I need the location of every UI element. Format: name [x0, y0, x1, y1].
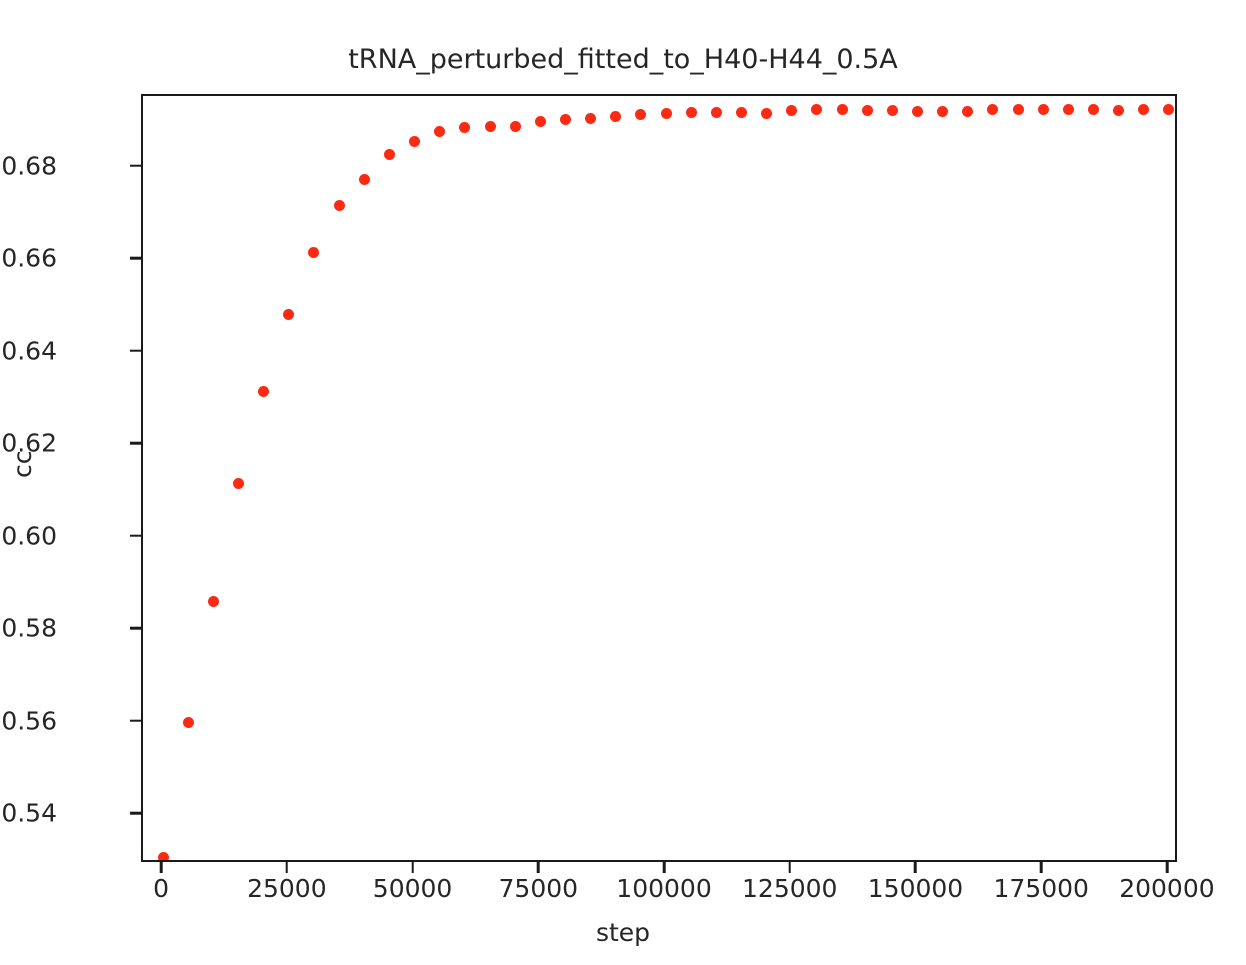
- x-tick-mark: [1166, 862, 1169, 873]
- data-point: [635, 109, 646, 120]
- data-point: [485, 121, 496, 132]
- x-tick-mark: [1040, 862, 1043, 873]
- x-axis-label: step: [0, 918, 1246, 947]
- y-tick-mark: [130, 442, 141, 445]
- y-tick-mark: [130, 349, 141, 352]
- data-point: [308, 247, 319, 258]
- y-tick-mark: [130, 257, 141, 260]
- y-tick-label: 0.56: [1, 706, 57, 735]
- y-tick-label: 0.58: [1, 614, 57, 643]
- data-point: [837, 104, 848, 115]
- x-tick-label: 125000: [742, 874, 837, 903]
- y-tick-label: 0.64: [1, 336, 57, 365]
- x-tick-label: 175000: [993, 874, 1088, 903]
- data-point: [1113, 105, 1124, 116]
- data-point: [434, 126, 445, 137]
- plot-area: [141, 94, 1177, 862]
- data-point: [258, 386, 269, 397]
- data-point: [661, 108, 672, 119]
- data-point: [560, 114, 571, 125]
- data-point: [409, 136, 420, 147]
- x-tick-label: 150000: [868, 874, 963, 903]
- y-tick-mark: [130, 164, 141, 167]
- x-tick-mark: [286, 862, 289, 873]
- y-tick-label: 0.54: [1, 799, 57, 828]
- x-tick-mark: [411, 862, 414, 873]
- data-point: [359, 174, 370, 185]
- data-point: [1138, 104, 1149, 115]
- figure-canvas: tRNA_perturbed_fitted_to_H40-H44_0.5A cc…: [0, 0, 1246, 965]
- data-point: [686, 107, 697, 118]
- x-tick-label: 0: [153, 874, 169, 903]
- data-point: [233, 478, 244, 489]
- data-point: [283, 309, 294, 320]
- data-point: [1163, 104, 1174, 115]
- y-tick-label: 0.66: [1, 244, 57, 273]
- data-point: [987, 104, 998, 115]
- data-point: [786, 105, 797, 116]
- data-point: [1038, 104, 1049, 115]
- data-point: [459, 122, 470, 133]
- data-point: [811, 104, 822, 115]
- y-tick-mark: [130, 812, 141, 815]
- data-point: [158, 852, 169, 860]
- x-tick-mark: [914, 862, 917, 873]
- data-point: [510, 121, 521, 132]
- x-tick-label: 25000: [247, 874, 327, 903]
- data-point: [585, 113, 596, 124]
- x-tick-label: 100000: [616, 874, 711, 903]
- data-point: [208, 596, 219, 607]
- data-point: [937, 106, 948, 117]
- data-point: [736, 107, 747, 118]
- data-point: [535, 116, 546, 127]
- x-tick-mark: [663, 862, 666, 873]
- x-tick-label: 75000: [499, 874, 579, 903]
- x-tick-label: 50000: [373, 874, 453, 903]
- data-point: [862, 105, 873, 116]
- x-tick-label: 200000: [1119, 874, 1214, 903]
- y-tick-mark: [130, 535, 141, 538]
- x-tick-mark: [537, 862, 540, 873]
- y-tick-mark: [130, 627, 141, 630]
- data-point: [711, 107, 722, 118]
- data-point: [334, 200, 345, 211]
- data-point: [962, 106, 973, 117]
- data-point: [384, 149, 395, 160]
- data-point: [761, 108, 772, 119]
- data-point: [1013, 104, 1024, 115]
- x-tick-mark: [160, 862, 163, 873]
- y-tick-label: 0.62: [1, 429, 57, 458]
- data-point: [887, 105, 898, 116]
- data-point: [183, 717, 194, 728]
- scatter-series-cc: [143, 96, 1175, 860]
- y-tick-label: 0.68: [1, 151, 57, 180]
- y-tick-label: 0.60: [1, 521, 57, 550]
- data-point: [1063, 104, 1074, 115]
- data-point: [1088, 104, 1099, 115]
- x-tick-mark: [788, 862, 791, 873]
- y-tick-mark: [130, 720, 141, 723]
- data-point: [912, 106, 923, 117]
- data-point: [610, 111, 621, 122]
- page-title: tRNA_perturbed_fitted_to_H40-H44_0.5A: [0, 44, 1246, 75]
